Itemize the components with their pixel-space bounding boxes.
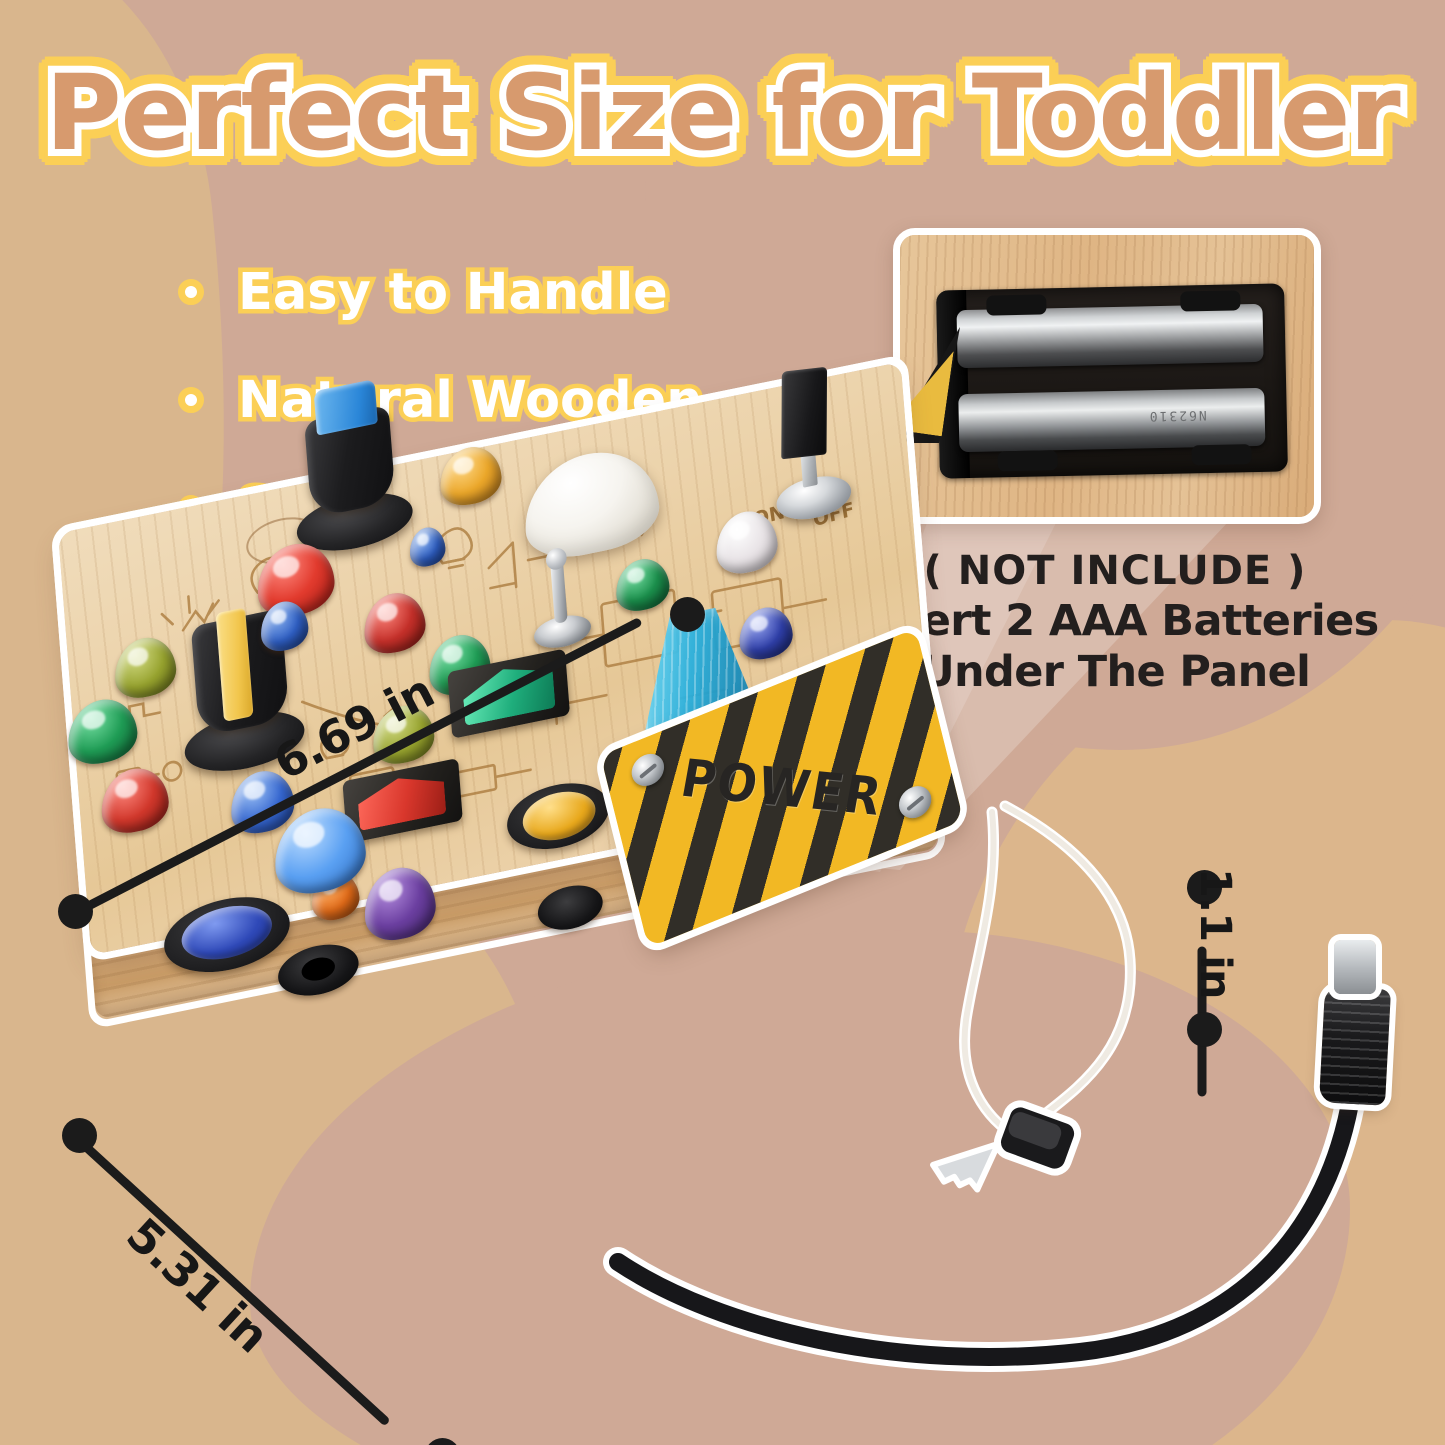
battery-code-text: N62310 xyxy=(1148,407,1207,423)
dimension-line xyxy=(70,617,643,919)
dimension-endpoint xyxy=(670,597,705,632)
dimension-endpoint xyxy=(1187,1012,1222,1047)
dimension-width: 6.69 in xyxy=(30,600,730,940)
battery-cell-2: N62310 xyxy=(958,388,1265,452)
dimension-label: 5.31 in xyxy=(116,1207,279,1362)
infographic-canvas: Perfect Size for Toddler Easy to Handle … xyxy=(0,0,1445,1445)
battery-contact xyxy=(1191,444,1251,465)
battery-contact xyxy=(1180,290,1240,311)
dc-plug-tip xyxy=(1334,940,1376,994)
battery-compartment-inset: N62310 xyxy=(893,228,1321,524)
page-title: Perfect Size for Toddler xyxy=(0,52,1445,174)
dimension-endpoint xyxy=(58,894,93,929)
key-head[interactable] xyxy=(781,367,827,460)
plug-grip-rings xyxy=(1319,986,1391,1105)
dimension-depth: 5.31 in xyxy=(40,1090,520,1445)
list-item: Easy to Handle xyxy=(178,238,703,346)
dimension-endpoint xyxy=(425,1438,460,1445)
dc-power-plug xyxy=(1319,986,1391,1105)
bullet-dot-icon xyxy=(178,387,204,413)
dimension-height: 1.1 in xyxy=(1188,870,1298,1050)
dimension-label: 1.1 in xyxy=(1190,868,1240,999)
battery-tray: N62310 xyxy=(936,283,1288,478)
feature-label: Easy to Handle xyxy=(238,263,668,322)
battery-contact xyxy=(997,450,1057,471)
bullet-dot-icon xyxy=(178,279,204,305)
battery-contact xyxy=(986,294,1046,315)
dimension-endpoint xyxy=(62,1118,97,1153)
